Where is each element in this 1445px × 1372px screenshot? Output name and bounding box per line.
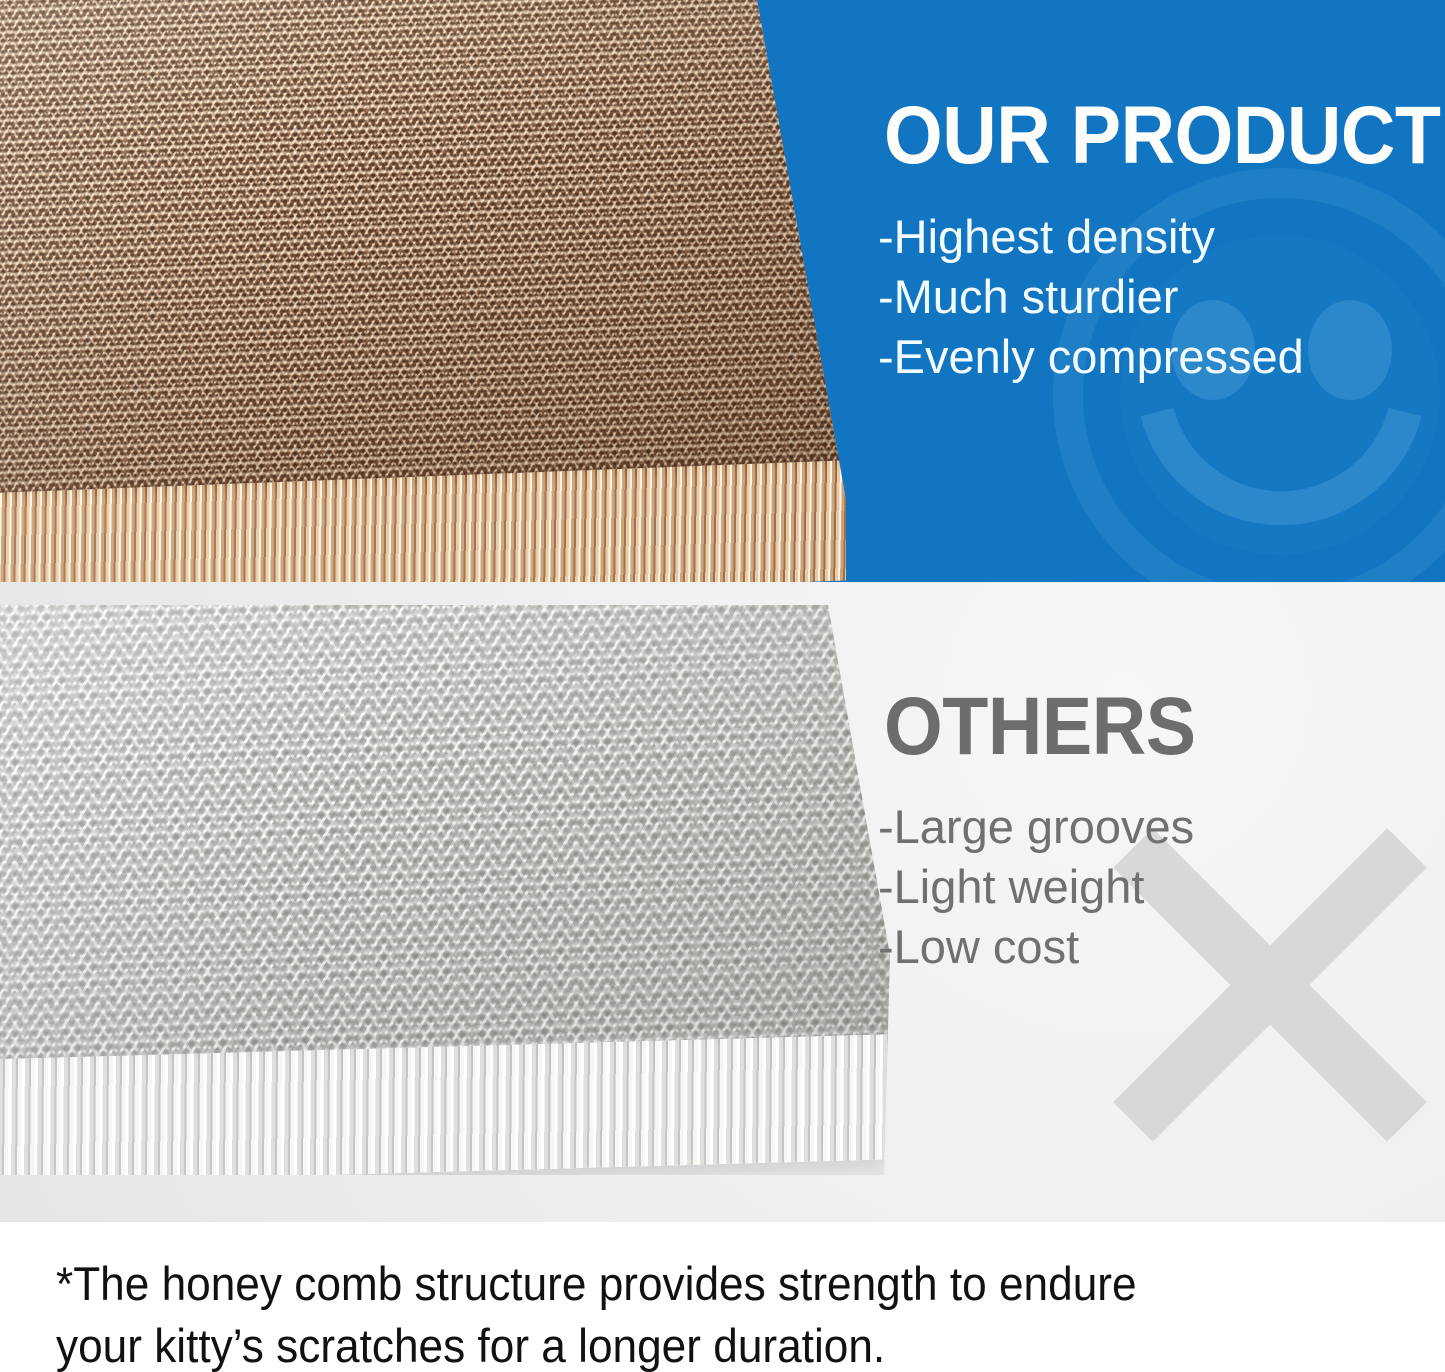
others-feature-list: -Large grooves -Light weight -Low cost [878, 797, 1194, 977]
list-item: -Large grooves [878, 797, 1194, 857]
our-product-feature-list: -Highest density -Much sturdier -Evenly … [878, 207, 1304, 387]
our-product-heading: OUR PRODUCT [884, 95, 1441, 177]
white-board-side-edge [0, 1033, 890, 1175]
footnote-caption: *The honey comb structure provides stren… [56, 1253, 1334, 1372]
caption-line-2: your kitty’s scratches for a longer dura… [56, 1315, 1334, 1372]
list-item: -Much sturdier [878, 267, 1304, 327]
others-heading: OTHERS [884, 686, 1196, 768]
list-item: -Light weight [878, 857, 1194, 917]
white-board-top-face [0, 605, 890, 1095]
product-comparison-infographic: OUR PRODUCT -Highest density -Much sturd… [0, 0, 1445, 1372]
brown-corrugated-board [0, 0, 846, 582]
brown-board-top-face [0, 0, 846, 508]
list-item: -Evenly compressed [878, 327, 1304, 387]
white-corrugated-board [0, 605, 890, 1175]
caption-area: *The honey comb structure provides stren… [0, 1222, 1445, 1372]
caption-line-1: *The honey comb structure provides stren… [56, 1253, 1334, 1315]
others-panel: OTHERS -Large grooves -Light weight -Low… [0, 582, 1445, 1222]
list-item: -Highest density [878, 207, 1304, 267]
our-product-panel: OUR PRODUCT -Highest density -Much sturd… [0, 0, 1445, 582]
list-item: -Low cost [878, 917, 1194, 977]
